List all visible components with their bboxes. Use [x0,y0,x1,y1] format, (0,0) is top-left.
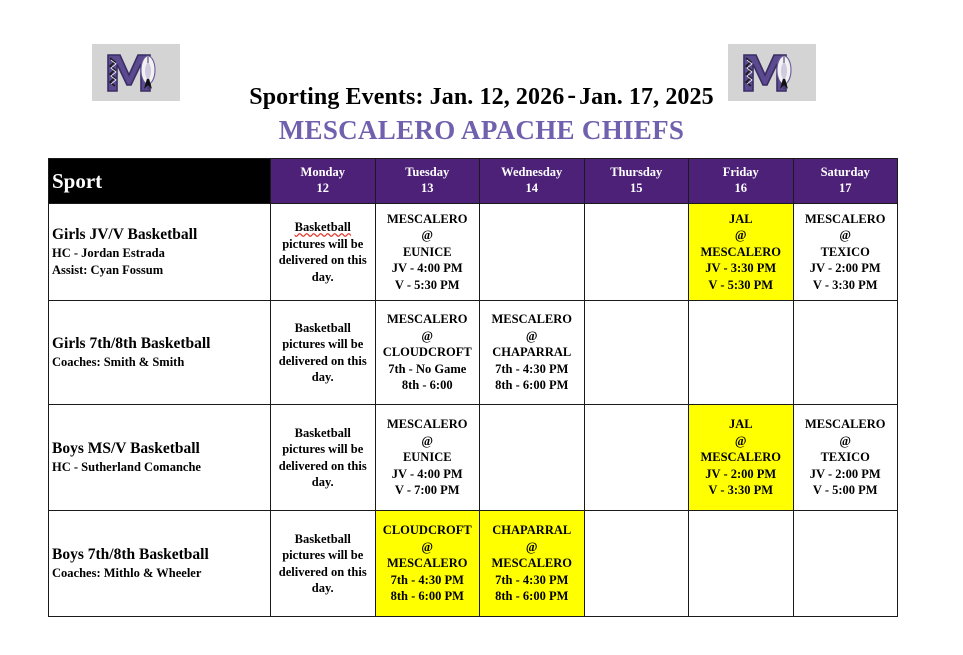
event-line: 8th - 6:00 PM [483,588,581,605]
event-line: V - 5:30 PM [692,277,790,294]
event-line: JAL [692,416,790,433]
table-row: Boys 7th/8th Basketball Coaches: Mithlo … [49,511,898,617]
title-range-end: Jan. 17, 2025 [579,84,714,110]
event-line: MESCALERO [379,311,477,328]
event-line: pictures will be [274,547,372,564]
sport-coach-primary: Coaches: Smith & Smith [52,354,267,371]
event-line: 8th - 6:00 PM [379,588,477,605]
sport-name: Boys MS/V Basketball [52,439,267,459]
event-line: MESCALERO [483,311,581,328]
column-header-saturday: Saturday 17 [793,159,898,204]
day-name: Tuesday [405,165,449,179]
event-line: day. [274,474,372,491]
event-cell: JAL@MESCALEROJV - 3:30 PMV - 5:30 PM [689,204,794,301]
day-name: Saturday [821,165,870,179]
event-line: CHAPARRAL [483,522,581,539]
event-cell: Basketballpictures will bedelivered on t… [271,301,376,405]
event-cell [584,301,689,405]
table-row: Boys MS/V Basketball HC - Sutherland Com… [49,405,898,511]
event-cell: Basketballpictures will bedelivered on t… [271,511,376,617]
event-cell: Basketballpictures will bedelivered on t… [271,204,376,301]
event-line: 8th - 6:00 [379,377,477,394]
event-cell: MESCALERO@CLOUDCROFT7th - No Game8th - 6… [375,301,480,405]
sport-name: Girls 7th/8th Basketball [52,334,267,354]
sport-cell: Boys MS/V Basketball HC - Sutherland Com… [49,405,271,511]
column-header-monday: Monday 12 [271,159,376,204]
event-cell [584,204,689,301]
event-cell: MESCALERO@TEXICOJV - 2:00 PMV - 5:00 PM [793,405,898,511]
event-line: JAL [692,211,790,228]
event-line: delivered on this [274,353,372,370]
table-row: Girls JV/V Basketball HC - Jordan Estrad… [49,204,898,301]
title-dash: - [564,80,579,109]
event-cell [793,301,898,405]
column-header-wednesday: Wednesday 14 [480,159,585,204]
day-number: 15 [588,181,686,197]
event-line: @ [483,539,581,556]
event-line: V - 5:00 PM [797,482,895,499]
event-line: V - 5:30 PM [379,277,477,294]
table-header-row: Sport Monday 12 Tuesday 13 Wednesday 14 [49,159,898,204]
event-line: day. [274,580,372,597]
event-cell: MESCALERO@EUNICEJV - 4:00 PMV - 5:30 PM [375,204,480,301]
event-line: JV - 3:30 PM [692,260,790,277]
event-line: MESCALERO [379,211,477,228]
title-range-start: Sporting Events: Jan. 12, 2026 [249,84,564,110]
event-cell [584,511,689,617]
event-line: @ [379,433,477,450]
event-cell: Basketballpictures will bedelivered on t… [271,405,376,511]
event-line: delivered on this [274,252,372,269]
event-line: Basketball [274,531,372,548]
event-cell [480,405,585,511]
day-name: Friday [723,165,759,179]
event-line: JV - 2:00 PM [692,466,790,483]
event-line: EUNICE [379,244,477,261]
event-line: V - 3:30 PM [797,277,895,294]
spellcheck-underline: Basketball [295,220,351,234]
event-cell [689,511,794,617]
event-line: @ [797,433,895,450]
schedule-page: Sporting Events: Jan. 12, 2026-Jan. 17, … [0,0,963,655]
event-cell: MESCALERO@EUNICEJV - 4:00 PMV - 7:00 PM [375,405,480,511]
page-title: Sporting Events: Jan. 12, 2026-Jan. 17, … [0,80,963,111]
event-cell: CLOUDCROFT@MESCALERO7th - 4:30 PM8th - 6… [375,511,480,617]
event-line: @ [797,227,895,244]
sport-coach-secondary: Assist: Cyan Fossum [52,262,267,279]
day-number: 17 [797,181,895,197]
event-line: JV - 2:00 PM [797,260,895,277]
event-line: MESCALERO [379,555,477,572]
event-line: 7th - 4:30 PM [483,361,581,378]
event-line: V - 7:00 PM [379,482,477,499]
event-line: @ [379,328,477,345]
event-line: JV - 4:00 PM [379,466,477,483]
schedule-table: Sport Monday 12 Tuesday 13 Wednesday 14 [48,158,898,617]
event-line: pictures will be [274,441,372,458]
column-header-tuesday: Tuesday 13 [375,159,480,204]
event-cell [793,511,898,617]
event-cell: JAL@MESCALEROJV - 2:00 PMV - 3:30 PM [689,405,794,511]
schedule-table-container: Sport Monday 12 Tuesday 13 Wednesday 14 [48,158,898,617]
column-header-friday: Friday 16 [689,159,794,204]
schedule-table-body: Girls JV/V Basketball HC - Jordan Estrad… [49,204,898,617]
event-line: day. [274,369,372,386]
school-name-subtitle: MESCALERO APACHE CHIEFS [0,115,963,146]
event-line: @ [379,227,477,244]
column-header-sport: Sport [49,159,271,204]
event-line: 7th - 4:30 PM [483,572,581,589]
document-header: Sporting Events: Jan. 12, 2026-Jan. 17, … [0,0,963,148]
day-number: 12 [274,181,372,197]
event-line: JV - 2:00 PM [797,466,895,483]
event-line: delivered on this [274,458,372,475]
event-cell: MESCALERO@TEXICOJV - 2:00 PMV - 3:30 PM [793,204,898,301]
event-line: delivered on this [274,564,372,581]
event-line: MESCALERO [692,449,790,466]
event-line: @ [692,227,790,244]
event-line: @ [379,539,477,556]
event-line: Basketball [274,425,372,442]
table-row: Girls 7th/8th Basketball Coaches: Smith … [49,301,898,405]
event-line: @ [483,328,581,345]
event-line: 8th - 6:00 PM [483,377,581,394]
event-line: TEXICO [797,449,895,466]
event-line: 7th - 4:30 PM [379,572,477,589]
event-line: V - 3:30 PM [692,482,790,499]
event-line: pictures will be [274,336,372,353]
event-line: MESCALERO [379,416,477,433]
event-cell [480,204,585,301]
sport-coach-primary: HC - Jordan Estrada [52,245,267,262]
sport-coach-primary: HC - Sutherland Comanche [52,459,267,476]
event-line: day. [274,269,372,286]
event-cell [584,405,689,511]
sport-coach-primary: Coaches: Mithlo & Wheeler [52,565,267,582]
event-line: MESCALERO [797,416,895,433]
sport-name: Girls JV/V Basketball [52,225,267,245]
sport-cell: Girls 7th/8th Basketball Coaches: Smith … [49,301,271,405]
event-line: MESCALERO [692,244,790,261]
event-cell: MESCALERO@CHAPARRAL7th - 4:30 PM8th - 6:… [480,301,585,405]
day-number: 14 [483,181,581,197]
sport-cell: Girls JV/V Basketball HC - Jordan Estrad… [49,204,271,301]
event-line: CHAPARRAL [483,344,581,361]
event-line: CLOUDCROFT [379,344,477,361]
event-line: TEXICO [797,244,895,261]
day-name: Wednesday [501,165,562,179]
event-line: JV - 4:00 PM [379,260,477,277]
event-cell [689,301,794,405]
day-number: 16 [692,181,790,197]
event-line: CLOUDCROFT [379,522,477,539]
sport-cell: Boys 7th/8th Basketball Coaches: Mithlo … [49,511,271,617]
day-number: 13 [379,181,477,197]
day-name: Thursday [610,165,662,179]
event-line: Basketball [274,320,372,337]
day-name: Monday [301,165,345,179]
event-line: Basketball [274,219,372,236]
event-line: 7th - No Game [379,361,477,378]
sport-name: Boys 7th/8th Basketball [52,545,267,565]
event-line: MESCALERO [483,555,581,572]
event-line: MESCALERO [797,211,895,228]
event-line: @ [692,433,790,450]
event-line: pictures will be [274,236,372,253]
column-header-thursday: Thursday 15 [584,159,689,204]
event-cell: CHAPARRAL@MESCALERO7th - 4:30 PM8th - 6:… [480,511,585,617]
event-line: EUNICE [379,449,477,466]
